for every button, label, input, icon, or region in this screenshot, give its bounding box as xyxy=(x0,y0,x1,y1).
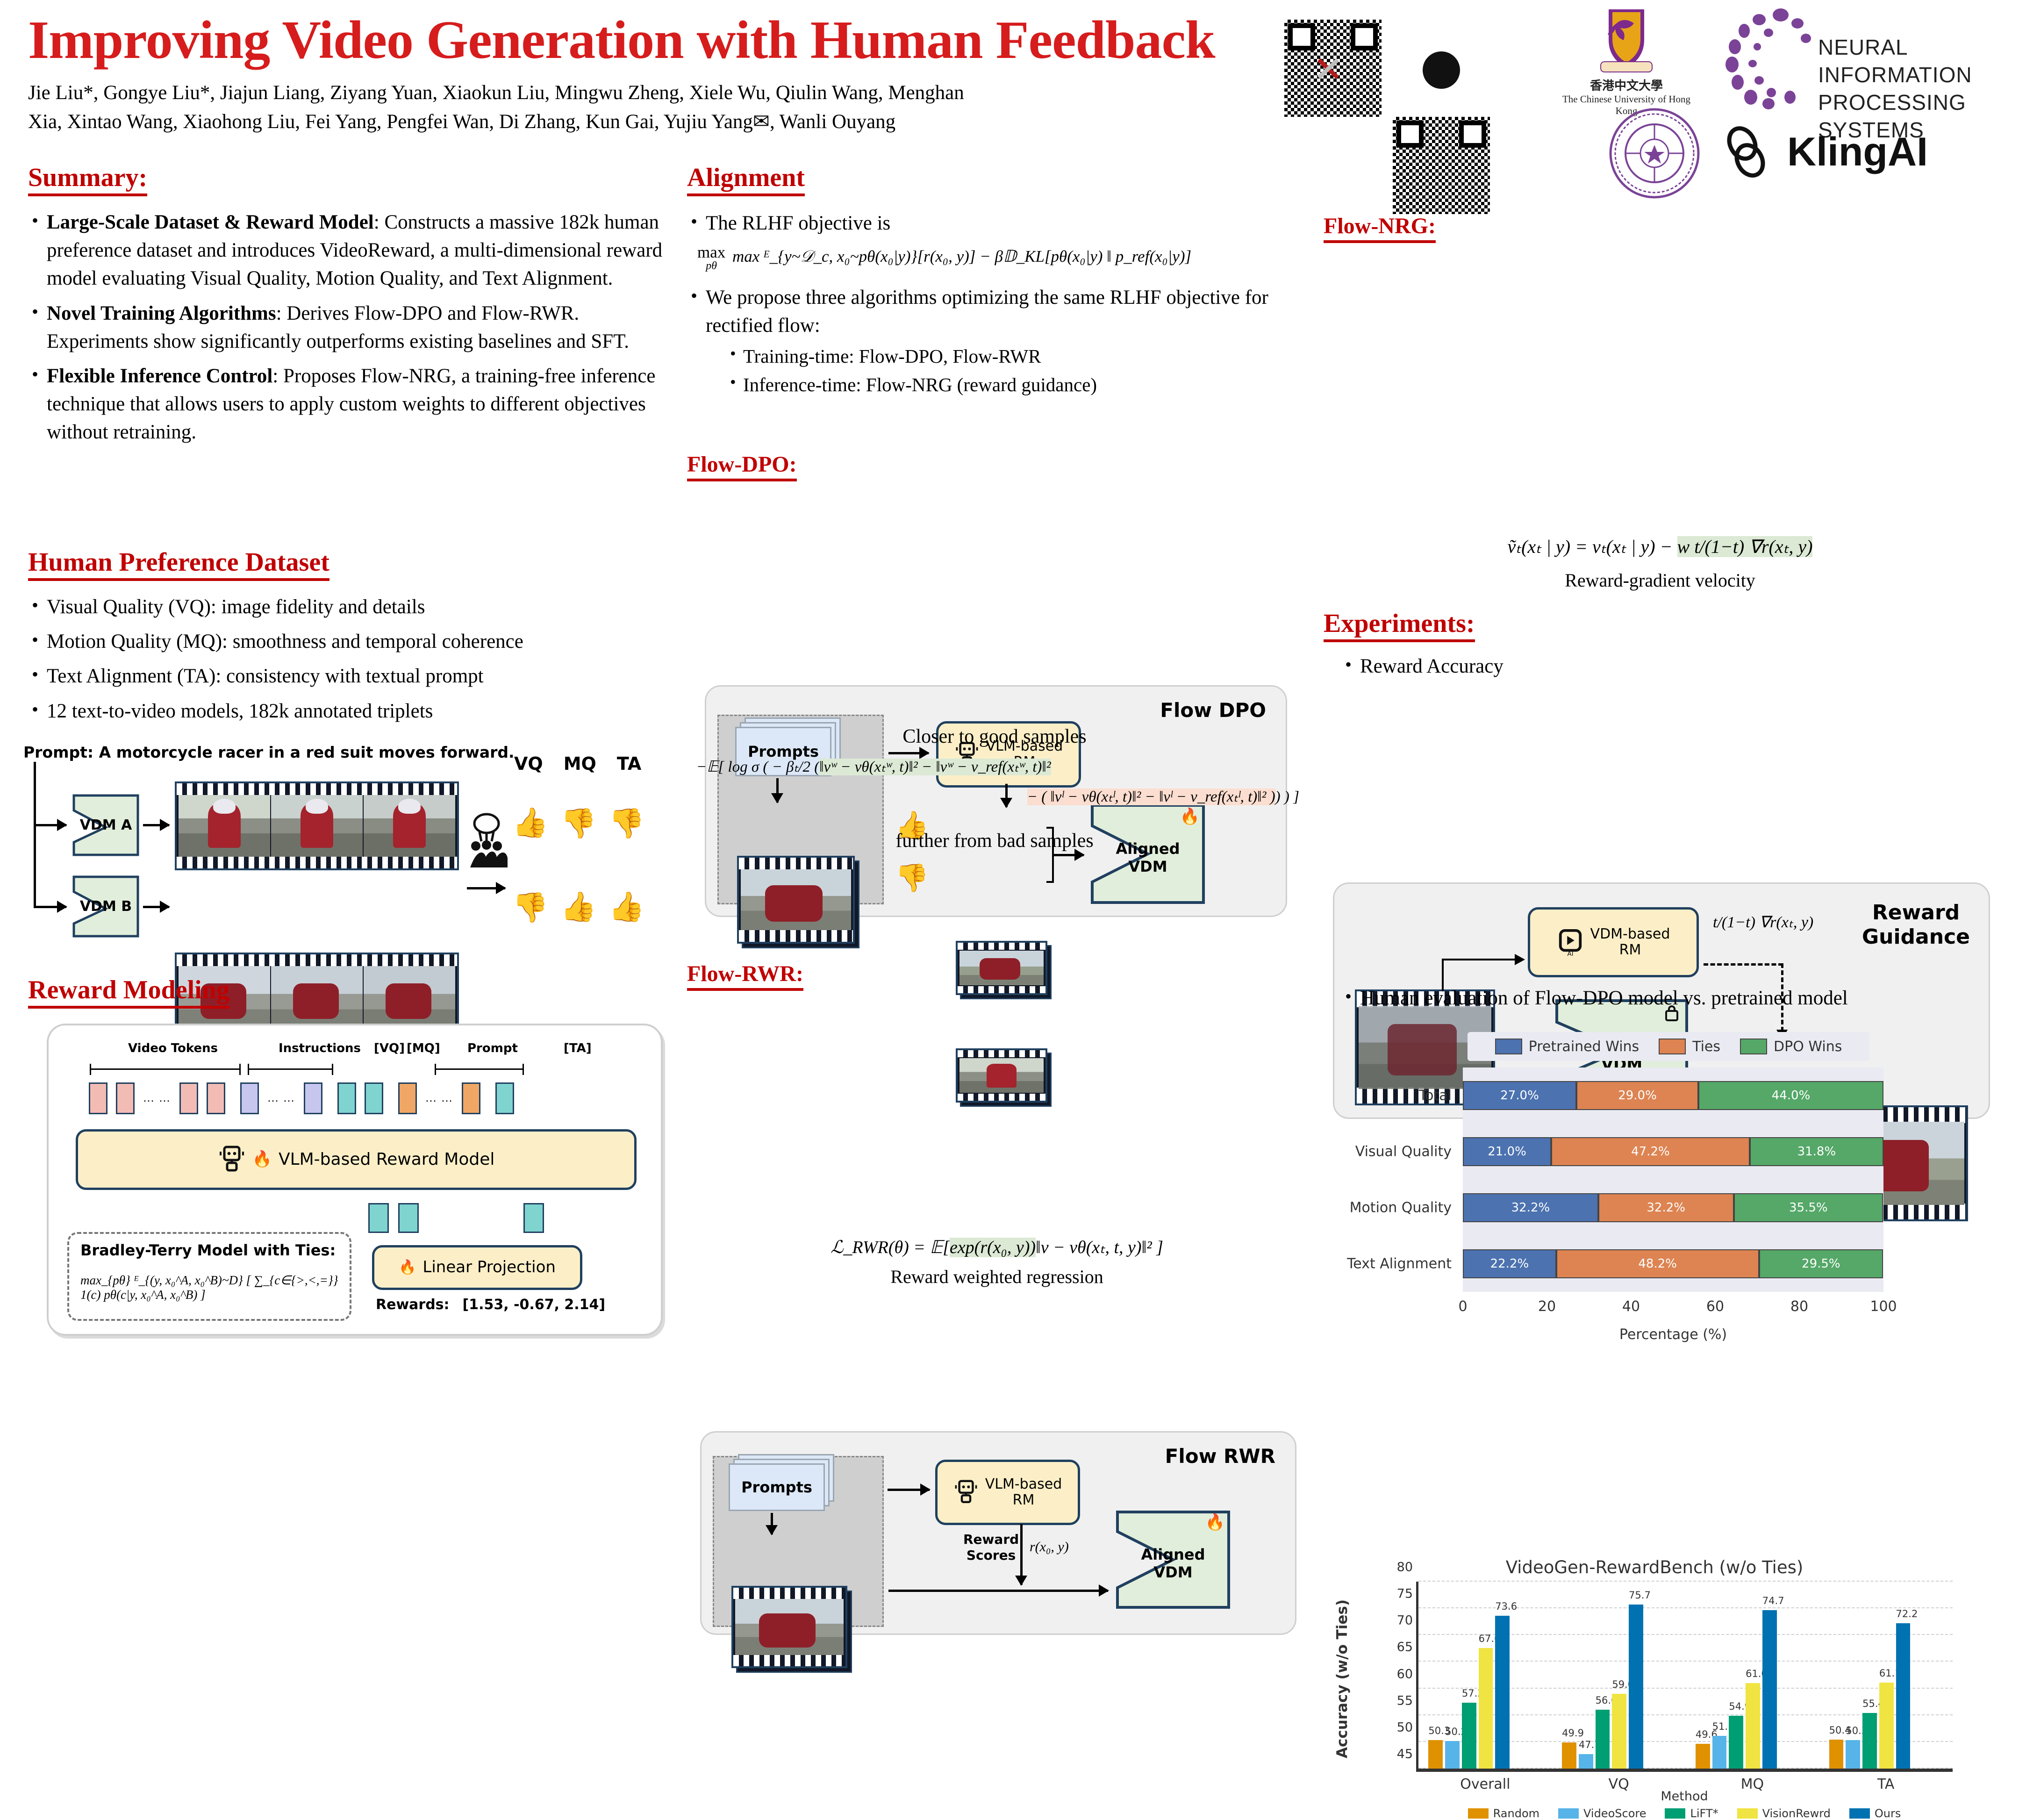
chart-bar xyxy=(1479,1648,1493,1769)
stacked-bar-segment: 31.8% xyxy=(1750,1137,1883,1166)
stacked-bar-segment: 22.2% xyxy=(1463,1249,1556,1278)
token-ellipsis: … … xyxy=(425,1092,453,1105)
alignment-item-2: We propose three algorithms optimizing t… xyxy=(687,284,1299,398)
chart-ytick: 75 xyxy=(1397,1587,1413,1601)
chart-legend: RandomVideoScoreLiFT*VisionRewrdOurs xyxy=(1416,1807,1953,1820)
group-label-instructions: Instructions xyxy=(279,1041,361,1055)
rewards-values: [1.53, -0.67, 2.14] xyxy=(463,1297,606,1313)
token-mq xyxy=(365,1082,383,1114)
vdm-a-block: VDM A xyxy=(72,794,140,857)
alignment-list-2: We propose three algorithms optimizing t… xyxy=(687,284,1299,398)
chart-ytick: 80 xyxy=(1397,1560,1413,1575)
tsinghua-logo xyxy=(1608,107,1701,200)
output-token-row xyxy=(368,1203,544,1233)
flow-rwr-diagram: Flow RWR Prompts VLM-basedRM Reward Scor… xyxy=(700,1431,1296,1635)
flow-nrg-equation: ṽₜ(xₜ | y) = vₜ(xₜ | y) − w t/(1−t) ∇r(x… xyxy=(1333,536,1987,558)
human-eval-legend-label: Pretrained Wins xyxy=(1529,1039,1640,1055)
summary-item-3: Flexible Inference Control: Proposes Flo… xyxy=(28,362,668,447)
vote-down-icon: 👍 xyxy=(895,864,929,891)
chart-bar xyxy=(1712,1736,1727,1769)
bradley-terry-title: Bradley-Terry Model with Ties: xyxy=(80,1241,336,1259)
chart-bar xyxy=(1762,1610,1777,1769)
chart-legend-label: Random xyxy=(1493,1807,1539,1820)
flow-rwr-panel-title: Flow RWR xyxy=(1165,1445,1275,1468)
vdm-b-votes: 👍 👍 👍 xyxy=(512,893,645,922)
fire-icon: 🔥 xyxy=(1205,1513,1225,1532)
experiments-item-2: Human evaluation of Flow-DPO model vs. p… xyxy=(1341,984,1986,1012)
neurips-logo: NEURAL INFORMATION PROCESSING SYSTEMS xyxy=(1711,7,2010,115)
output-token-vq xyxy=(368,1203,389,1233)
chart-ytick: 70 xyxy=(1397,1613,1413,1628)
dataset-item-4: 12 text-to-video models, 182k annotated … xyxy=(28,697,668,725)
stacked-bar-category-label: Total xyxy=(1419,1088,1452,1104)
chart-bar xyxy=(1896,1623,1911,1769)
flow-rwr-equation: ℒ_RWR(θ) = 𝔼[exp(r(x₀, y))‖v − vθ(xₜ, t,… xyxy=(700,1237,1294,1258)
chart-legend-title: Method xyxy=(1416,1789,1953,1804)
human-eval-legend-swatch xyxy=(1659,1039,1686,1054)
vote-up-icon: 👍 xyxy=(560,893,596,922)
group-label-video-tokens: Video Tokens xyxy=(128,1041,218,1055)
chart-legend-swatch xyxy=(1849,1808,1870,1819)
col-header-ta: TA xyxy=(617,753,641,774)
vdm-rm-box: AI VDM-basedRM xyxy=(1528,907,1699,977)
flow-dpo-caption-top: Closer to good samples xyxy=(705,725,1284,748)
chart-bar-value: 47.7 xyxy=(1579,1739,1593,1750)
human-eval-xlabel: Percentage (%) xyxy=(1463,1326,1883,1343)
token-ellipsis: … … xyxy=(267,1092,295,1105)
chart-bar-value: 50.3 xyxy=(1846,1725,1860,1736)
chart-ytick: 50 xyxy=(1397,1720,1413,1734)
vlm-rm-box: VLM-basedRM xyxy=(935,1460,1080,1525)
rm-label-line2: RM xyxy=(1590,942,1670,959)
chart-bar-value: 54.9 xyxy=(1729,1701,1743,1712)
chart-bar xyxy=(1495,1616,1510,1769)
qr-code-github[interactable] xyxy=(1393,117,1490,214)
vdm-a-label: VDM A xyxy=(72,817,140,833)
video-strip-vdm-a xyxy=(175,781,459,870)
vote-down-icon: 👍 xyxy=(512,893,548,922)
output-token-mq xyxy=(398,1203,419,1233)
rm-label-line2: RM xyxy=(985,1492,1062,1509)
token-prompt xyxy=(462,1082,480,1114)
stacked-bar-row: 27.0%29.0%44.0% xyxy=(1463,1081,1883,1110)
stacked-bar-xtick: 20 xyxy=(1538,1298,1556,1315)
stacked-bar-segment: 35.5% xyxy=(1734,1193,1883,1222)
gradient-term: t/(1−t) ∇r(xₜ, y) xyxy=(1713,913,1813,931)
human-eval-chart: Pretrained WinsTiesDPO Wins 27.0%29.0%44… xyxy=(1351,1028,1968,1337)
chart-bar xyxy=(1562,1742,1576,1769)
human-eval-legend-swatch xyxy=(1495,1039,1522,1054)
flow-rwr-caption: Reward weighted regression xyxy=(700,1266,1294,1288)
fire-icon: 🔥 xyxy=(399,1260,416,1276)
fire-icon: 🔥 xyxy=(252,1150,272,1168)
stacked-bar-category-label: Motion Quality xyxy=(1350,1200,1452,1216)
prompts-stack: Prompts xyxy=(729,1463,825,1511)
chart-bar xyxy=(1579,1754,1593,1769)
col-header-mq: MQ xyxy=(564,753,596,774)
human-eval-legend-swatch xyxy=(1740,1039,1767,1054)
human-eval-legend-item: DPO Wins xyxy=(1740,1039,1842,1055)
experiments-list-2: Human evaluation of Flow-DPO model vs. p… xyxy=(1341,984,1986,1019)
token-video xyxy=(179,1082,198,1114)
chart-legend-label: VideoScore xyxy=(1583,1807,1646,1820)
rm-label-line1: VLM-based xyxy=(985,1476,1062,1493)
chart-legend-swatch xyxy=(1558,1808,1579,1819)
dataset-item-2: Motion Quality (MQ): smoothness and temp… xyxy=(28,628,668,656)
rlhf-objective-equation: max pθ max ᴱ_{y~𝒟_c, x₀~pθ(x₀|y)}[r(x₀, … xyxy=(697,244,1299,272)
flow-rwr-heading: Flow-RWR: xyxy=(687,963,803,991)
vote-down-icon: 👍 xyxy=(609,809,644,838)
stacked-bar-segment: 44.0% xyxy=(1698,1081,1883,1110)
rewards-label: Rewards: xyxy=(376,1297,450,1313)
output-token-ta xyxy=(523,1203,544,1233)
vlm-reward-model-label: VLM-based Reward Model xyxy=(279,1150,494,1169)
stacked-bar-row: 22.2%48.2%29.5% xyxy=(1463,1249,1883,1278)
aligned-vdm-line2: VDM xyxy=(1089,858,1206,875)
token-sequence: … … … … … … xyxy=(89,1082,514,1114)
chart-bar xyxy=(1829,1740,1844,1769)
chart-bar xyxy=(1729,1716,1743,1769)
chart-legend-item: VideoScore xyxy=(1558,1807,1646,1820)
qr-code-arxiv[interactable] xyxy=(1284,20,1382,117)
aligned-vdm-block: Aligned VDM 🔥 xyxy=(1089,803,1206,905)
flow-dpo-caption-bottom: further from bad samples xyxy=(705,830,1284,852)
stacked-bar-segment: 48.2% xyxy=(1556,1249,1759,1278)
stacked-bar-segment: 47.2% xyxy=(1551,1137,1750,1166)
chart-gridline xyxy=(1418,1581,1953,1582)
chart-ytick: 60 xyxy=(1397,1667,1413,1681)
chart-legend-item: Ours xyxy=(1849,1807,1901,1820)
dataset-item-3: Text Alignment (TA): consistency with te… xyxy=(28,662,668,690)
experiments-item-1: Reward Accuracy xyxy=(1341,652,1986,681)
human-eval-legend-item: Pretrained Wins xyxy=(1495,1039,1640,1055)
chart-bar-value: 56.0 xyxy=(1596,1695,1610,1706)
chart-legend-item: LiFT* xyxy=(1665,1807,1718,1820)
human-eval-plot-area: 27.0%29.0%44.0%Total21.0%47.2%31.8%Visua… xyxy=(1463,1068,1883,1292)
flow-dpo-equation: −𝔼[ log σ ( − βₜ/2 (‖vʷ − vθ(xₜʷ, t)‖² −… xyxy=(696,757,1299,806)
vote-up-icon: 👍 xyxy=(512,809,548,838)
chart-legend-swatch xyxy=(1665,1808,1685,1819)
chart-plot-area: 455055606570758050.350.257.367.673.6Over… xyxy=(1416,1582,1953,1772)
experiments-heading: Experiments: xyxy=(1324,610,1475,642)
chart-title: VideoGen-RewardBench (w/o Ties) xyxy=(1346,1557,1963,1577)
flow-nrg-panel-title: Reward Guidance xyxy=(1862,901,1970,949)
human-eval-legend: Pretrained WinsTiesDPO Wins xyxy=(1468,1032,1869,1061)
vdm-a-votes: 👍 👍 👍 xyxy=(512,809,645,838)
chart-bar-value: 50.2 xyxy=(1445,1726,1460,1737)
rewards-readout: Rewards: [1.53, -0.67, 2.14] xyxy=(376,1297,605,1313)
author-line-2: Xia, Xintao Wang, Xiaohong Liu, Fei Yang… xyxy=(28,107,1206,136)
dataset-item-1: Visual Quality (VQ): image fidelity and … xyxy=(28,593,668,621)
alignment-sublist: Training-time: Flow-DPO, Flow-RWR Infere… xyxy=(727,343,1299,399)
chart-ytick: 65 xyxy=(1397,1640,1413,1655)
annotators-icon xyxy=(465,812,508,868)
token-prompt xyxy=(398,1082,417,1114)
aligned-vdm-line2: VDM xyxy=(1115,1563,1231,1581)
aligned-vdm-line1: Aligned xyxy=(1115,1546,1231,1563)
stacked-bar-row: 21.0%47.2%31.8% xyxy=(1463,1137,1883,1166)
vote-down-icon: 👍 xyxy=(560,809,596,838)
flow-dpo-heading: Flow-DPO: xyxy=(687,453,797,481)
reward-modeling-heading: Reward Modeling xyxy=(28,977,229,1009)
stacked-bar-category-label: Text Alignment xyxy=(1347,1256,1452,1272)
group-label-ta: [TA] xyxy=(564,1041,592,1055)
chart-bar-value: 61.0 xyxy=(1746,1668,1760,1679)
stacked-bar-segment: 32.2% xyxy=(1463,1193,1598,1222)
linear-projection-label: Linear Projection xyxy=(422,1258,556,1276)
chart-bar-value: 73.6 xyxy=(1495,1601,1510,1612)
chart-bar xyxy=(1462,1703,1476,1769)
chart-bar xyxy=(1846,1740,1860,1769)
chart-bar-value: 75.7 xyxy=(1629,1590,1643,1601)
klingai-wordmark: KlingAI xyxy=(1787,129,1928,175)
experiments-list-1: Reward Accuracy xyxy=(1341,652,1986,687)
stacked-bar-xtick: 100 xyxy=(1870,1298,1897,1315)
poster-title: Improving Video Generation with Human Fe… xyxy=(28,13,1262,67)
winning-video xyxy=(956,941,1047,995)
preference-figure: Prompt: A motorcycle racer in a red suit… xyxy=(21,743,675,953)
stacked-bar-row: 32.2%32.2%35.5% xyxy=(1463,1193,1883,1222)
rm-label-line1: VDM-based xyxy=(1590,926,1670,943)
chart-legend-label: Ours xyxy=(1875,1807,1901,1820)
human-eval-legend-item: Ties xyxy=(1659,1039,1720,1055)
group-label-mq: [MQ] xyxy=(407,1041,440,1055)
stacked-bar-xtick: 40 xyxy=(1622,1298,1640,1315)
bradley-terry-formula: max_{pθ} ᴱ_{(y, x₀^A, x₀^B)~D} [ ∑_{c∈{>… xyxy=(80,1273,342,1302)
token-video xyxy=(89,1082,107,1114)
chart-bar-value: 51.1 xyxy=(1712,1721,1727,1732)
col-header-vq: VQ xyxy=(514,753,543,774)
group-label-vq: [VQ] xyxy=(374,1041,405,1055)
human-eval-legend-label: Ties xyxy=(1692,1039,1720,1055)
author-line-1: Jie Liu*, Gongye Liu*, Jiajun Liang, Ziy… xyxy=(28,79,1206,107)
neurips-name-line1: NEURAL INFORMATION xyxy=(1818,34,2010,89)
summary-list: Large-Scale Dataset & Reward Model: Cons… xyxy=(28,208,668,447)
flow-nrg-heading: Flow-NRG: xyxy=(1324,215,1436,243)
bradley-terry-box: Bradley-Terry Model with Ties: max_{pθ} … xyxy=(67,1232,351,1321)
cuhk-logo: 香港中文大學 The Chinese University of Hong Ko… xyxy=(1556,7,1697,105)
token-video xyxy=(207,1082,225,1114)
author-list: Jie Liu*, Gongye Liu*, Jiajun Liang, Ziy… xyxy=(28,79,1206,137)
alignment-item-1: The RLHF objective is xyxy=(687,209,1299,237)
stacked-bar-xtick: 0 xyxy=(1458,1298,1467,1315)
score-column-headers: VQ MQ TA xyxy=(514,753,654,774)
stacked-bar-segment: 29.0% xyxy=(1576,1081,1698,1110)
page-title: Improving Video Generation with Human Fe… xyxy=(28,13,1262,67)
chart-bar-value: 50.4 xyxy=(1829,1725,1844,1736)
vlm-reward-model-box: 🔥 VLM-based Reward Model xyxy=(76,1129,637,1190)
chart-bar xyxy=(1428,1740,1443,1769)
alignment-subitem-1: Training-time: Flow-DPO, Flow-RWR xyxy=(727,343,1299,370)
flow-nrg-caption: Reward-gradient velocity xyxy=(1333,569,1987,591)
chart-ytick: 55 xyxy=(1397,1693,1413,1708)
stacked-bar-segment: 32.2% xyxy=(1598,1193,1734,1222)
alignment-heading: Alignment xyxy=(687,165,805,196)
token-instruction xyxy=(240,1082,259,1114)
linear-projection-box: 🔥 Linear Projection xyxy=(372,1245,582,1290)
chart-legend-label: VisionRewrd xyxy=(1762,1807,1831,1820)
robot-icon xyxy=(953,1477,979,1507)
reward-model-diagram: Video Tokens Instructions [VQ] [MQ] Prom… xyxy=(47,1024,663,1336)
reward-scores-label: Reward Scores xyxy=(963,1532,1019,1563)
video-ai-icon: AI xyxy=(1557,928,1584,957)
robot-icon xyxy=(218,1143,246,1176)
chart-ytick: 45 xyxy=(1397,1747,1413,1762)
summary-item-1: Large-Scale Dataset & Reward Model: Cons… xyxy=(28,208,668,293)
chart-ylabel: Accuracy (w/o Ties) xyxy=(1334,1599,1351,1758)
chart-bar-value: 61.1 xyxy=(1879,1668,1894,1679)
token-vq xyxy=(337,1082,356,1114)
dataset-list: Visual Quality (VQ): image fidelity and … xyxy=(28,593,668,725)
stacked-bar-category-label: Visual Quality xyxy=(1355,1144,1452,1160)
token-ellipsis: … … xyxy=(143,1092,171,1105)
figure-prompt-text: Prompt: A motorcycle racer in a red suit… xyxy=(23,743,515,761)
vdm-b-block: VDM B xyxy=(72,875,140,938)
reward-accuracy-chart: VideoGen-RewardBench (w/o Ties) Accuracy… xyxy=(1346,1557,1963,1819)
chart-bar xyxy=(1612,1694,1626,1769)
stacked-bar-segment: 21.0% xyxy=(1463,1137,1551,1166)
chart-legend-item: Random xyxy=(1468,1807,1539,1820)
chart-bar xyxy=(1862,1713,1877,1769)
chart-bar xyxy=(1696,1744,1710,1769)
stacked-bar-segment: 27.0% xyxy=(1463,1081,1576,1110)
chart-legend-swatch xyxy=(1737,1808,1758,1819)
dataset-heading: Human Preference Dataset xyxy=(28,549,329,581)
summary-heading: Summary: xyxy=(28,165,147,196)
chart-bar-value: 67.6 xyxy=(1479,1633,1493,1644)
cuhk-chinese-name: 香港中文大學 xyxy=(1556,76,1697,93)
alignment-subitem-2: Inference-time: Flow-NRG (reward guidanc… xyxy=(727,372,1299,398)
klingai-logo: KlingAI xyxy=(1720,117,1982,187)
flow-dpo-panel-title: Flow DPO xyxy=(1160,699,1266,722)
chart-bar xyxy=(1879,1683,1894,1769)
chart-legend-item: VisionRewrd xyxy=(1737,1807,1831,1820)
github-logo-icon xyxy=(1423,51,1460,89)
reward-symbol: r(x₀, y) xyxy=(1030,1539,1069,1555)
chart-bar-value: 49.6 xyxy=(1696,1729,1710,1740)
stacked-bar-segment: 29.5% xyxy=(1759,1249,1883,1278)
chart-bar-value: 74.7 xyxy=(1762,1595,1777,1606)
vote-up-icon: 👍 xyxy=(609,893,644,922)
chart-legend-swatch xyxy=(1468,1808,1489,1819)
chart-bar xyxy=(1746,1683,1760,1769)
prompts-label: Prompts xyxy=(741,1478,812,1496)
aligned-vdm-block: Aligned VDM 🔥 xyxy=(1115,1509,1231,1610)
human-eval-legend-label: DPO Wins xyxy=(1774,1039,1842,1055)
vdm-b-label: VDM B xyxy=(72,898,140,915)
alignment-list: The RLHF objective is xyxy=(687,209,1299,237)
stacked-bar-xtick: 60 xyxy=(1706,1298,1724,1315)
token-instruction xyxy=(304,1082,322,1114)
generated-videos-stack xyxy=(731,1586,847,1668)
token-video xyxy=(116,1082,135,1114)
summary-item-2: Novel Training Algorithms: Derives Flow-… xyxy=(28,300,668,356)
chart-bar xyxy=(1596,1710,1610,1769)
chart-bar xyxy=(1445,1741,1460,1769)
chart-bar-value: 59.0 xyxy=(1612,1679,1626,1690)
losing-video xyxy=(956,1048,1047,1103)
stacked-bar-xtick: 80 xyxy=(1790,1298,1808,1315)
chart-bar-value: 57.3 xyxy=(1462,1688,1476,1699)
chart-bar xyxy=(1629,1605,1643,1769)
group-label-prompt: Prompt xyxy=(467,1041,518,1055)
chart-bar-value: 50.3 xyxy=(1428,1725,1443,1736)
generated-videos-stack xyxy=(737,856,855,944)
token-ta xyxy=(495,1082,514,1114)
fire-icon: 🔥 xyxy=(1180,807,1200,826)
chart-bar-value: 49.9 xyxy=(1562,1727,1576,1739)
chart-bar-value: 72.2 xyxy=(1896,1608,1911,1619)
chart-legend-label: LiFT* xyxy=(1690,1807,1718,1820)
chart-bar-value: 55.4 xyxy=(1862,1698,1877,1709)
svg-text:AI: AI xyxy=(1567,950,1573,957)
